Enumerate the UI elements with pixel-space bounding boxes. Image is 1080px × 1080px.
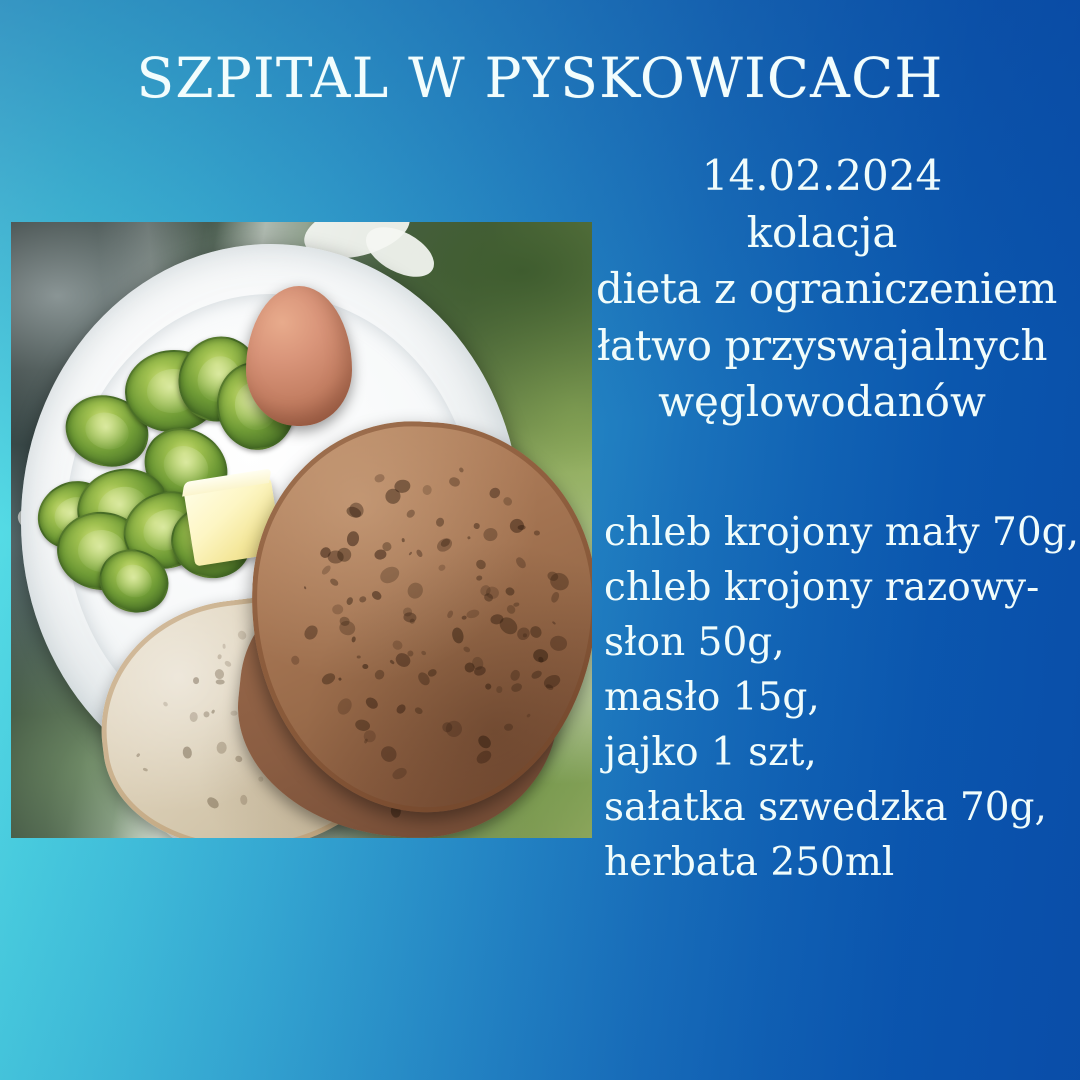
- bread-crumb-hole: [533, 530, 539, 535]
- menu-item: chleb krojony mały 70g,: [604, 505, 1074, 560]
- bread-crumb-hole: [514, 555, 528, 570]
- bread-crumb-hole: [550, 591, 560, 603]
- bread-crumb-hole: [458, 467, 464, 473]
- bread-crumb-hole: [476, 733, 494, 751]
- bread-crumb-hole: [552, 621, 556, 625]
- bread-crumb-hole: [136, 752, 141, 757]
- meal-photo: [11, 222, 592, 838]
- bread-crumb-hole: [214, 668, 225, 680]
- bread-crumb-hole: [461, 615, 467, 620]
- bread-crumb-hole: [363, 695, 380, 711]
- bread-crumb-hole: [438, 564, 447, 572]
- bread-crumb-hole: [302, 623, 321, 642]
- bread-crumb-hole: [510, 669, 522, 682]
- bread-crumb-hole: [530, 669, 543, 680]
- bread-crumb-hole: [514, 602, 520, 607]
- bread-crumb-hole: [473, 523, 480, 530]
- bread-crumb-hole: [484, 682, 492, 690]
- bread-crumb-hole: [183, 747, 193, 760]
- bread-crumb-hole: [487, 485, 502, 500]
- bread-crumb-hole: [346, 500, 365, 520]
- bread-crumb-hole: [205, 795, 221, 811]
- bread-crumb-hole: [235, 754, 243, 762]
- bread-crumb-hole: [427, 668, 438, 678]
- diet-line-2: łatwo przyswajalnych: [596, 318, 1048, 375]
- bread-crumb-hole: [422, 484, 433, 495]
- bread-crumb-hole: [320, 671, 337, 686]
- bread-crumb-hole: [526, 713, 531, 718]
- bread-crumb-hole: [329, 577, 340, 587]
- bread-crumb-hole: [533, 648, 550, 663]
- bread-crumb-hole: [474, 558, 488, 572]
- menu-list: chleb krojony mały 70g, chleb krojony ra…: [604, 505, 1074, 890]
- bread-crumb-hole: [476, 575, 483, 581]
- bread-crumb-hole: [474, 748, 494, 767]
- bread-crumb-hole: [504, 586, 516, 597]
- bread-crumb-hole: [338, 677, 342, 681]
- meal-date: 14.02.2024: [596, 148, 1048, 205]
- bread-crumb-hole: [528, 624, 544, 640]
- bread-crumb-hole: [467, 536, 471, 540]
- bread-crumb-hole: [332, 604, 344, 615]
- meal-header-block: 14.02.2024 kolacja dieta z ograniczeniem…: [596, 148, 1048, 431]
- menu-item: chleb krojony razowy-: [604, 560, 1074, 615]
- bread-crumb-hole: [408, 551, 412, 556]
- bread-crumb-hole: [496, 686, 503, 693]
- bread-crumb-hole: [236, 629, 248, 641]
- bread-crumb-hole: [395, 703, 407, 715]
- bread-crumb-hole: [211, 709, 215, 714]
- plate: [21, 244, 521, 800]
- bread-crumb-hole: [446, 610, 454, 619]
- bread-crumb-hole: [463, 645, 471, 653]
- bread-crumb-hole: [466, 608, 481, 619]
- bread-crumb-hole: [448, 475, 461, 487]
- bread-crumb-hole: [303, 586, 307, 590]
- bread-crumb-hole: [351, 636, 356, 643]
- bread-crumb-hole: [240, 795, 248, 805]
- page-title: SZPITAL W PYSKOWICACH: [0, 51, 1080, 106]
- bread-crumb-hole: [362, 664, 368, 669]
- menu-item: masło 15g,: [604, 670, 1074, 725]
- bread-crumb-hole: [391, 639, 405, 652]
- bread-crumb-hole: [502, 495, 514, 507]
- bread-crumb-hole: [223, 660, 232, 668]
- bread-crumb-hole: [217, 653, 222, 659]
- bread-crumb-hole: [320, 564, 332, 577]
- bread-crumb-hole: [335, 696, 354, 717]
- bread-crumb-hole: [374, 473, 386, 484]
- bread-crumb-hole: [504, 723, 514, 731]
- bread-crumb-hole: [415, 707, 424, 716]
- bread-crumb-hole: [451, 626, 465, 644]
- bread-crumb-hole: [189, 712, 197, 722]
- bread-crumb-hole: [434, 517, 445, 528]
- bread-crumb-hole: [202, 710, 210, 718]
- bread-crumb-hole: [518, 525, 526, 530]
- bread-crumb-hole: [291, 655, 301, 666]
- bread-crumb-hole: [406, 508, 417, 519]
- bread-crumb-hole: [346, 530, 360, 547]
- menu-item: jajko 1 szt,: [604, 725, 1074, 780]
- bread-crumb-hole: [258, 776, 264, 782]
- bread-crumb-hole: [406, 580, 426, 601]
- bread-crumb-hole: [407, 650, 413, 656]
- bread-crumb-hole: [389, 660, 395, 666]
- bread-crumb-hole: [215, 680, 224, 686]
- menu-item: sałatka szwedzka 70g,: [604, 780, 1074, 835]
- bread-crumb-hole: [378, 563, 403, 586]
- bread-crumb-hole: [415, 549, 424, 559]
- bread-crumb-hole: [542, 672, 562, 690]
- meal-name: kolacja: [596, 205, 1048, 262]
- bread-crumb-hole: [420, 650, 427, 656]
- diet-line-3: węglowodanów: [596, 374, 1048, 431]
- bread-crumb-hole: [373, 668, 387, 682]
- bread-crumb-hole: [222, 644, 226, 649]
- menu-item: słon 50g,: [604, 615, 1074, 670]
- bread-crumb-hole: [142, 767, 148, 772]
- bread-crumb-hole: [231, 711, 238, 716]
- bread-crumb-hole: [162, 700, 169, 707]
- bread-crumb-hole: [549, 635, 568, 653]
- bread-crumb-hole: [510, 683, 523, 694]
- bread-crumb-hole: [371, 590, 383, 602]
- menu-item: herbata 250ml: [604, 835, 1074, 890]
- bread-crumb-hole: [359, 595, 368, 603]
- bread-crumb-hole: [401, 538, 405, 543]
- bread-crumb-hole: [482, 527, 499, 543]
- bread-crumb-hole: [193, 677, 200, 684]
- bread-crumb-hole: [373, 549, 387, 561]
- diet-line-1: dieta z ograniczeniem: [596, 261, 1048, 318]
- bread-crumb-hole: [378, 743, 400, 765]
- bread-crumb-hole: [338, 619, 357, 637]
- bread-crumb-hole: [216, 742, 227, 754]
- bread-crumb-hole: [390, 765, 408, 781]
- bread-crumb-hole: [345, 596, 354, 606]
- bread-crumb-hole: [357, 656, 361, 659]
- bread-crumb-hole: [434, 535, 454, 553]
